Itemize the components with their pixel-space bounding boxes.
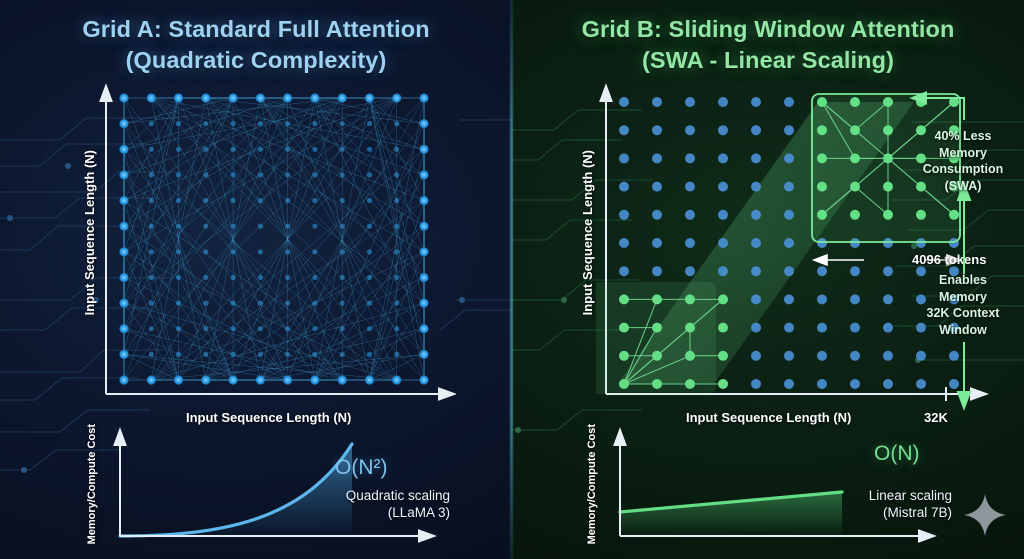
panel-a-caption-line2: (LLaMA 3) — [210, 504, 450, 521]
window-dot — [718, 351, 728, 361]
grid-dot — [751, 210, 761, 220]
grid-dot — [231, 198, 236, 203]
grid-dot — [258, 224, 263, 229]
grid-dot — [817, 351, 827, 361]
grid-dot — [751, 238, 761, 248]
grid-dot — [312, 326, 317, 331]
panel-b-chart-y-axis-label: Memory/Compute Cost — [586, 424, 598, 544]
window-dot — [718, 379, 728, 389]
grid-dot — [149, 121, 154, 126]
grid-dot — [419, 93, 428, 102]
grid-dot — [652, 153, 662, 163]
grid-dot — [850, 323, 860, 333]
grid-dot — [392, 375, 401, 384]
grid-dot — [285, 172, 290, 177]
grid-dot — [619, 182, 629, 192]
annotation-context-window-line2: Memory — [916, 289, 1010, 306]
grid-dot — [718, 153, 728, 163]
grid-dot — [258, 147, 263, 152]
annotation-memory-saving-line2: Memory — [916, 145, 1010, 162]
annotation-memory-saving-line1: 40% Less — [916, 128, 1010, 145]
grid-dot — [147, 375, 156, 384]
grid-dot — [231, 301, 236, 306]
grid-dot — [340, 147, 345, 152]
grid-dot — [312, 352, 317, 357]
grid-dot — [751, 323, 761, 333]
grid-dot — [119, 93, 128, 102]
attention-edges — [124, 98, 424, 380]
grid-dot — [784, 351, 794, 361]
grid-dot — [285, 301, 290, 306]
grid-dot — [119, 247, 128, 256]
grid-dot — [784, 182, 794, 192]
grid-dot — [203, 275, 208, 280]
grid-dot — [394, 147, 399, 152]
grid-dot — [312, 301, 317, 306]
annotation-context-window-line4: Window — [916, 322, 1010, 339]
grid-dot — [619, 210, 629, 220]
grid-dot — [883, 294, 893, 304]
grid-dot — [176, 224, 181, 229]
grid-dot — [392, 93, 401, 102]
window-dot — [718, 323, 728, 333]
grid-dot — [883, 266, 893, 276]
grid-dot — [365, 375, 374, 384]
grid-dot — [149, 224, 154, 229]
grid-dot — [229, 375, 238, 384]
panel-b-title-line1: Grid B: Sliding Window Attention — [512, 14, 1024, 45]
grid-dot — [312, 198, 317, 203]
annotation-memory-saving-line4: (SWA) — [916, 178, 1010, 195]
grid-dot — [883, 323, 893, 333]
grid-dot — [149, 301, 154, 306]
grid-dot — [119, 145, 128, 154]
grid-dot — [119, 375, 128, 384]
panel-a-complexity-label: O(N²) — [335, 456, 387, 480]
annotation-memory-saving-line3: Consumption — [916, 161, 1010, 178]
grid-dot — [258, 301, 263, 306]
grid-dot — [340, 301, 345, 306]
grid-dot — [751, 294, 761, 304]
grid-dot — [176, 172, 181, 177]
grid-dot — [149, 275, 154, 280]
grid-dot — [340, 352, 345, 357]
annotation-context-window-line3: 32K Context — [916, 305, 1010, 322]
grid-dot — [340, 224, 345, 229]
grid-dot — [119, 324, 128, 333]
grid-dot — [203, 326, 208, 331]
panel-a-chart-y-axis-label: Memory/Compute Cost — [86, 424, 98, 544]
grid-dot — [149, 147, 154, 152]
grid-dot — [258, 198, 263, 203]
grid-dot — [718, 182, 728, 192]
grid-dot — [338, 375, 347, 384]
grid-dot — [784, 294, 794, 304]
grid-dot — [652, 182, 662, 192]
grid-dot — [619, 266, 629, 276]
grid-dot — [367, 121, 372, 126]
grid-dot — [203, 249, 208, 254]
grid-dot — [419, 375, 428, 384]
grid-dot — [685, 238, 695, 248]
grid-dot — [751, 97, 761, 107]
grid-dot — [338, 93, 347, 102]
grid-dot — [258, 275, 263, 280]
full-attention-grid — [96, 84, 456, 414]
grid-dot — [367, 275, 372, 280]
grid-dot — [652, 266, 662, 276]
grid-dot — [394, 224, 399, 229]
grid-dot — [203, 301, 208, 306]
panel-b-grid-x-axis-label: Input Sequence Length (N) — [686, 410, 851, 425]
grid-dot — [718, 125, 728, 135]
grid-dot — [817, 323, 827, 333]
grid-dot — [367, 352, 372, 357]
grid-dot — [685, 182, 695, 192]
grid-dot — [231, 172, 236, 177]
grid-dot — [685, 97, 695, 107]
panel-a-title-line1: Grid A: Standard Full Attention — [0, 14, 512, 45]
grid-dot — [176, 352, 181, 357]
grid-dot — [367, 147, 372, 152]
panel-a-caption-line1: Quadratic scaling — [210, 487, 450, 504]
panel-b-title: Grid B: Sliding Window Attention (SWA - … — [512, 14, 1024, 76]
grid-dot — [231, 249, 236, 254]
grid-dot — [285, 275, 290, 280]
grid-dot — [784, 153, 794, 163]
grid-dot — [619, 153, 629, 163]
grid-dot — [751, 182, 761, 192]
infographic-canvas: Grid A: Standard Full Attention (Quadrat… — [0, 0, 1024, 559]
grid-dot — [784, 125, 794, 135]
grid-dot — [652, 210, 662, 220]
grid-dot — [367, 198, 372, 203]
grid-dot — [419, 170, 428, 179]
panel-b-caption-line2: (Mistral 7B) — [712, 504, 952, 521]
grid-dot — [203, 121, 208, 126]
grid-dot — [147, 93, 156, 102]
grid-dot — [256, 375, 265, 384]
grid-dot — [340, 249, 345, 254]
grid-dot — [285, 147, 290, 152]
panel-a-chart-caption: Quadratic scaling (LLaMA 3) — [210, 487, 450, 522]
grid-dot — [685, 153, 695, 163]
grid-dot — [285, 249, 290, 254]
grid-dot — [231, 121, 236, 126]
grid-dot — [231, 224, 236, 229]
grid-dot — [394, 198, 399, 203]
panel-b-title-line2: (SWA - Linear Scaling) — [512, 45, 1024, 76]
grid-dot — [394, 326, 399, 331]
grid-dot — [419, 119, 428, 128]
grid-dot — [751, 125, 761, 135]
grid-dot — [817, 294, 827, 304]
annotation-memory-saving: 40% Less Memory Consumption (SWA) — [916, 128, 1010, 194]
grid-dot — [817, 266, 827, 276]
panel-a-grid-y-axis-label: Input Sequence Length (N) — [82, 150, 97, 315]
grid-dot — [718, 97, 728, 107]
grid-dot — [419, 324, 428, 333]
grid-dot — [203, 198, 208, 203]
annotation-context-window-line1: Enables — [916, 272, 1010, 289]
grid-dot — [751, 153, 761, 163]
grid-dot — [367, 326, 372, 331]
grid-dot — [817, 379, 827, 389]
grid-dot — [751, 379, 761, 389]
grid-dot — [203, 147, 208, 152]
panel-a-title: Grid A: Standard Full Attention (Quadrat… — [0, 14, 512, 76]
grid-dot — [258, 249, 263, 254]
grid-dot — [119, 196, 128, 205]
grid-dot — [201, 93, 210, 102]
grid-dot — [850, 379, 860, 389]
grid-dot — [718, 266, 728, 276]
annotation-context-window: Enables Memory 32K Context Window — [916, 272, 1010, 338]
grid-dot — [419, 299, 428, 308]
panel-b-chart-caption: Linear scaling (Mistral 7B) — [712, 487, 952, 522]
panel-b-grid-y-axis-label: Input Sequence Length (N) — [580, 150, 595, 315]
grid-dot — [285, 198, 290, 203]
grid-dot — [419, 273, 428, 282]
grid-dot — [365, 93, 374, 102]
grid-dot — [394, 352, 399, 357]
grid-dot — [256, 93, 265, 102]
grid-dot — [283, 375, 292, 384]
grid-dot — [751, 351, 761, 361]
panel-b-caption-line1: Linear scaling — [712, 487, 952, 504]
grid-dot — [312, 147, 317, 152]
grid-dot — [652, 238, 662, 248]
grid-dot — [340, 121, 345, 126]
grid-dot — [258, 172, 263, 177]
grid-dot — [394, 121, 399, 126]
grid-dot — [419, 247, 428, 256]
grid-dot — [340, 326, 345, 331]
grid-dot — [231, 352, 236, 357]
grid-dot — [258, 352, 263, 357]
panel-grid-b: Grid B: Sliding Window Attention (SWA - … — [512, 0, 1024, 559]
grid-dot — [231, 147, 236, 152]
grid-dot — [258, 326, 263, 331]
grid-dot — [394, 172, 399, 177]
panel-grid-a: Grid A: Standard Full Attention (Quadrat… — [0, 0, 512, 559]
grid-dot — [119, 119, 128, 128]
grid-dot — [285, 224, 290, 229]
grid-dot — [652, 125, 662, 135]
grid-dot — [231, 275, 236, 280]
grid-dot — [119, 350, 128, 359]
grid-dot — [751, 266, 761, 276]
grid-dot — [149, 198, 154, 203]
grid-dot — [229, 93, 238, 102]
grid-dot — [176, 198, 181, 203]
grid-dot — [619, 238, 629, 248]
grid-dot — [203, 352, 208, 357]
grid-dot — [784, 323, 794, 333]
grid-dot — [312, 275, 317, 280]
grid-dot — [367, 224, 372, 229]
grid-dot — [176, 301, 181, 306]
grid-dot — [685, 125, 695, 135]
grid-dot — [685, 266, 695, 276]
grid-dot — [203, 224, 208, 229]
grid-dot — [883, 379, 893, 389]
grid-dot — [149, 326, 154, 331]
grid-dot — [652, 97, 662, 107]
grid-dot — [718, 210, 728, 220]
grid-dot — [231, 326, 236, 331]
grid-dot — [149, 352, 154, 357]
grid-dot — [850, 266, 860, 276]
grid-dot — [149, 172, 154, 177]
grid-dot — [258, 121, 263, 126]
grid-dot — [394, 275, 399, 280]
grid-dot — [419, 145, 428, 154]
grid-dot — [718, 238, 728, 248]
grid-dot — [176, 275, 181, 280]
grid-dot — [883, 351, 893, 361]
grid-dot — [419, 350, 428, 359]
grid-dot — [312, 172, 317, 177]
grid-dot — [285, 326, 290, 331]
grid-dot — [174, 93, 183, 102]
grid-dot — [784, 97, 794, 107]
grid-dot — [619, 97, 629, 107]
grid-dot — [176, 121, 181, 126]
grid-dot — [367, 301, 372, 306]
grid-dot — [850, 351, 860, 361]
grid-dot — [340, 198, 345, 203]
grid-dot — [119, 299, 128, 308]
grid-dot — [312, 249, 317, 254]
panel-divider — [510, 0, 513, 559]
grid-dot — [119, 273, 128, 282]
grid-dot — [176, 326, 181, 331]
panel-a-title-line2: (Quadratic Complexity) — [0, 45, 512, 76]
grid-dot — [149, 249, 154, 254]
grid-dot — [201, 375, 210, 384]
grid-dot — [176, 147, 181, 152]
grid-dot — [619, 125, 629, 135]
grid-dot — [285, 121, 290, 126]
panel-a-grid-x-axis-label: Input Sequence Length (N) — [186, 410, 351, 425]
window-dot — [718, 294, 728, 304]
grid-dot — [394, 249, 399, 254]
grid-dot — [784, 238, 794, 248]
grid-dot — [340, 172, 345, 177]
panel-b-complexity-label: O(N) — [874, 442, 920, 466]
grid-dot — [419, 196, 428, 205]
grid-dot — [119, 170, 128, 179]
sliding-window-box-bottom — [596, 282, 716, 394]
grid-dot — [285, 352, 290, 357]
grid-dot — [784, 379, 794, 389]
grid-dot — [367, 249, 372, 254]
grid-dot — [312, 224, 317, 229]
grid-dot — [340, 275, 345, 280]
grid-dot — [367, 172, 372, 177]
grid-dot — [203, 172, 208, 177]
sparkle-icon — [962, 492, 1008, 538]
grid-dot — [784, 210, 794, 220]
grid-dot — [394, 301, 399, 306]
grid-dot — [174, 375, 183, 384]
grid-dot — [685, 210, 695, 220]
grid-dot — [119, 222, 128, 231]
grid-dot — [312, 121, 317, 126]
grid-dot — [784, 266, 794, 276]
grid-dot — [310, 375, 319, 384]
grid-dot — [283, 93, 292, 102]
grid-dot — [176, 249, 181, 254]
grid-dot — [850, 294, 860, 304]
grid-dot — [419, 222, 428, 231]
grid-dot — [310, 93, 319, 102]
